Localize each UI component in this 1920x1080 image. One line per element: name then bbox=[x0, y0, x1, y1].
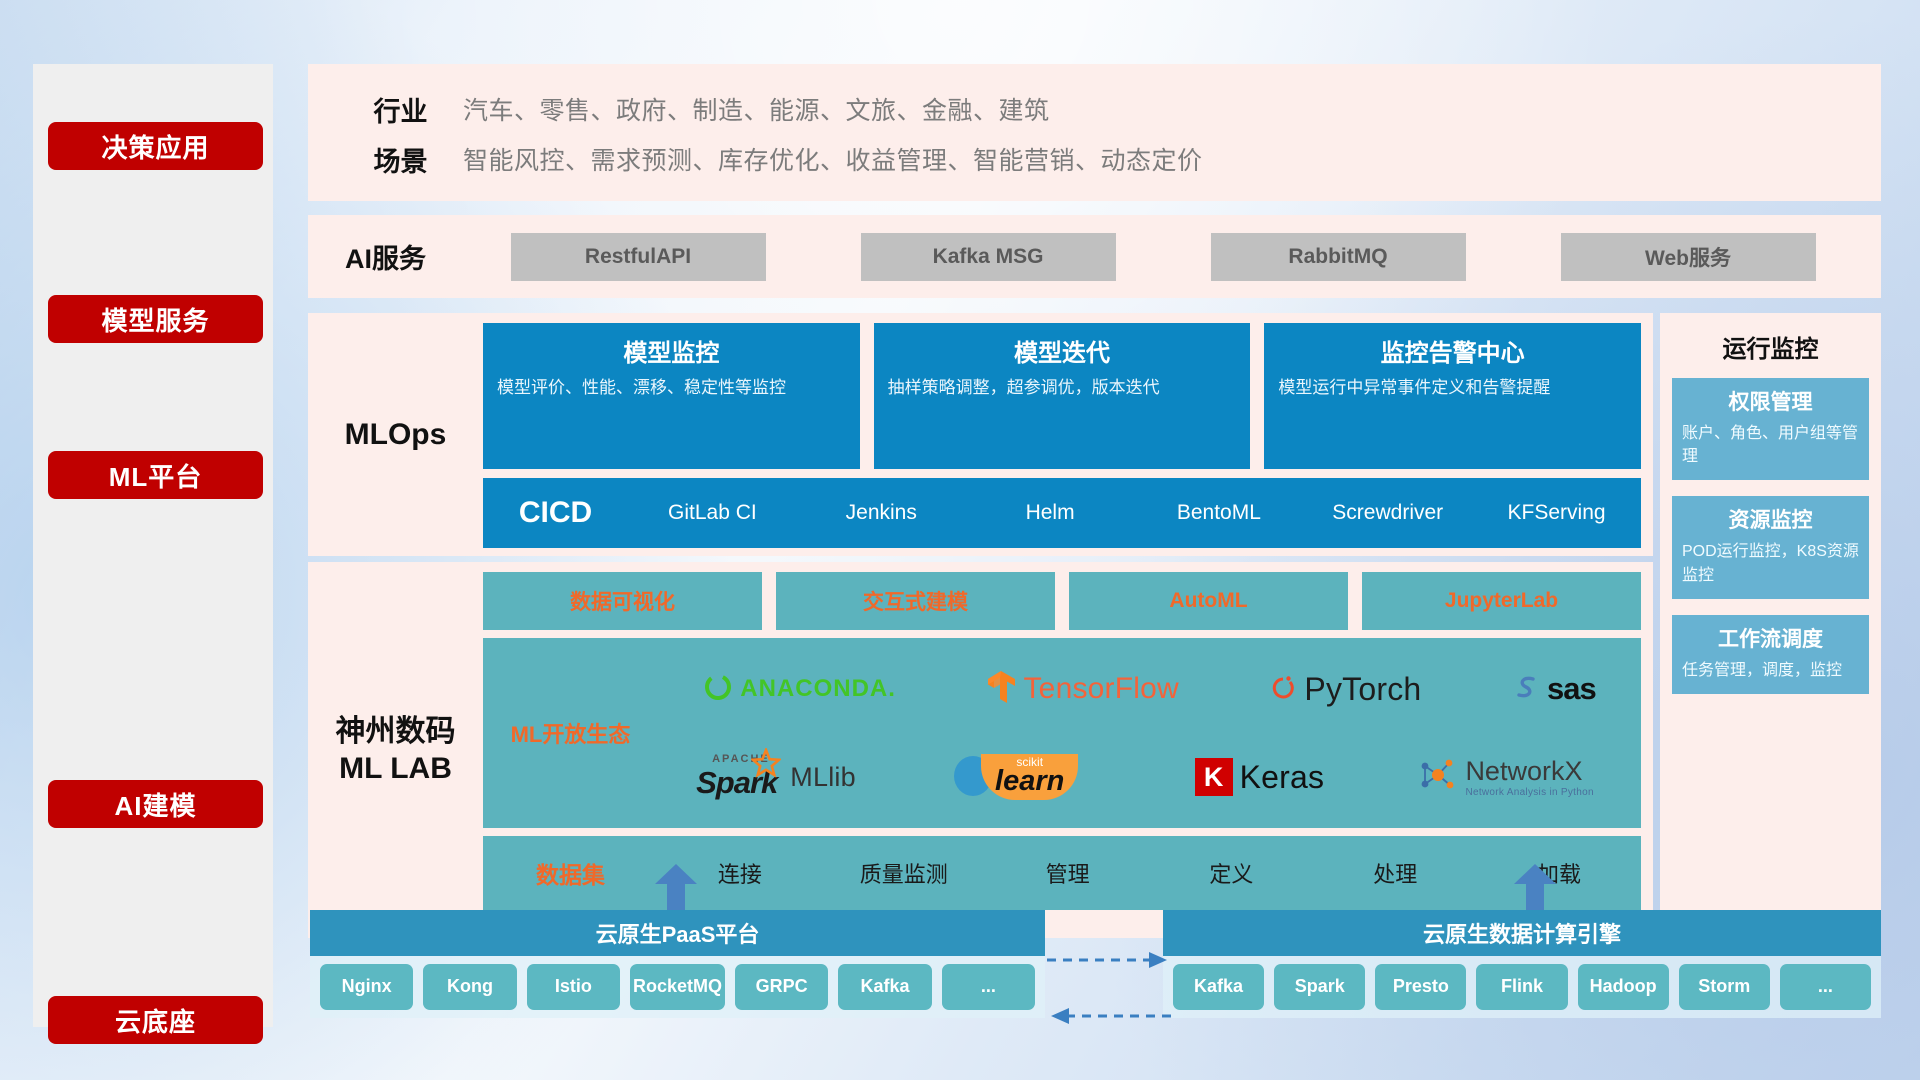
engine-chip[interactable]: Flink bbox=[1476, 964, 1567, 1010]
mlops-card-list: 模型监控 模型评价、性能、漂移、稳定性等监控 模型迭代 抽样策略调整，超参调优，… bbox=[483, 323, 1641, 469]
dataset-item-list: 连接 质量监测 管理 定义 处理 加载 bbox=[658, 857, 1641, 889]
monitoring-card-title: 资源监控 bbox=[1682, 504, 1859, 534]
ml-lab-label: 神州数码 ML LAB bbox=[308, 562, 483, 938]
paas-engine-connector bbox=[1045, 944, 1173, 1032]
monitoring-card-desc: 账户、角色、用户组等管理 bbox=[1682, 422, 1859, 468]
monitoring-card-title: 工作流调度 bbox=[1682, 623, 1859, 653]
cicd-bar: CICD GitLab CI Jenkins Helm BentoML Scre… bbox=[483, 478, 1641, 548]
engine-up-arrow-icon bbox=[1513, 864, 1557, 912]
cicd-item-list: GitLab CI Jenkins Helm BentoML Screwdriv… bbox=[628, 501, 1641, 525]
ml-lab-tool-list: 数据可视化 交互式建模 AutoML JupyterLab bbox=[483, 572, 1641, 630]
engine-chip-tray: Kafka Spark Presto Flink Hadoop Storm ..… bbox=[1163, 956, 1881, 1018]
networkx-logo: NetworkX Network Analysis in Python bbox=[1418, 756, 1593, 799]
scikit-learn-wordmark: learn bbox=[995, 768, 1064, 796]
paas-chip[interactable]: ... bbox=[942, 964, 1035, 1010]
ai-service-chip[interactable]: Web服务 bbox=[1561, 233, 1816, 281]
scenario-row: 场景 智能风控、需求预测、库存优化、收益管理、智能营销、动态定价 bbox=[308, 134, 1881, 184]
mlops-card-title: 模型迭代 bbox=[888, 333, 1237, 368]
pytorch-logo: PyTorch bbox=[1269, 671, 1421, 708]
engine-title: 云原生数据计算引擎 bbox=[1163, 910, 1881, 956]
ml-lab-tool[interactable]: JupyterLab bbox=[1362, 572, 1641, 630]
cicd-item[interactable]: Screwdriver bbox=[1303, 501, 1472, 525]
paas-up-arrow-icon bbox=[654, 864, 698, 912]
mlops-card-desc: 模型评价、性能、漂移、稳定性等监控 bbox=[497, 376, 846, 401]
mllib-wordmark: MLlib bbox=[790, 762, 856, 793]
engine-chip[interactable]: Storm bbox=[1679, 964, 1770, 1010]
engine-chip[interactable]: ... bbox=[1780, 964, 1871, 1010]
tensorflow-wordmark: TensorFlow bbox=[1023, 672, 1178, 706]
dataset-item[interactable]: 处理 bbox=[1313, 857, 1477, 889]
anaconda-icon bbox=[703, 672, 733, 707]
dataset-item[interactable]: 管理 bbox=[986, 857, 1150, 889]
dataset-item[interactable]: 质量监测 bbox=[822, 857, 986, 889]
industry-label: 行业 bbox=[308, 90, 463, 129]
scenario-label: 场景 bbox=[308, 140, 463, 179]
pytorch-wordmark: PyTorch bbox=[1304, 671, 1421, 708]
keras-logo: K Keras bbox=[1195, 758, 1325, 796]
ai-services-label: AI服务 bbox=[308, 237, 463, 276]
anaconda-logo: ANACONDA. bbox=[703, 672, 896, 707]
paas-chip[interactable]: Kong bbox=[423, 964, 516, 1010]
stage-rail: 决策应用 模型服务 ML平台 AI建模 云底座 bbox=[33, 64, 273, 1027]
applications-panel: 行业 汽车、零售、政府、制造、能源、文旅、金融、建筑 场景 智能风控、需求预测、… bbox=[308, 64, 1881, 201]
monitoring-card-desc: POD运行监控，K8S资源监控 bbox=[1682, 540, 1859, 586]
ml-lab-tool[interactable]: 数据可视化 bbox=[483, 572, 762, 630]
cicd-item[interactable]: Jenkins bbox=[797, 501, 966, 525]
ml-lab-label-line2: ML LAB bbox=[336, 750, 456, 788]
cicd-label: CICD bbox=[483, 496, 628, 530]
ml-ecosystem-label: ML开放生态 bbox=[483, 717, 658, 749]
ai-service-chip[interactable]: RestfulAPI bbox=[511, 233, 766, 281]
monitoring-card-title: 权限管理 bbox=[1682, 386, 1859, 416]
cicd-item[interactable]: GitLab CI bbox=[628, 501, 797, 525]
engine-chip[interactable]: Hadoop bbox=[1578, 964, 1669, 1010]
monitoring-card[interactable]: 权限管理 账户、角色、用户组等管理 bbox=[1672, 378, 1869, 480]
dataset-item[interactable]: 定义 bbox=[1149, 857, 1313, 889]
mlops-body: 模型监控 模型评价、性能、漂移、稳定性等监控 模型迭代 抽样策略调整，超参调优，… bbox=[483, 313, 1653, 556]
cicd-item[interactable]: KFServing bbox=[1472, 501, 1641, 525]
ai-service-chip[interactable]: Kafka MSG bbox=[861, 233, 1116, 281]
engine-chip[interactable]: Presto bbox=[1375, 964, 1466, 1010]
monitoring-card[interactable]: 资源监控 POD运行监控，K8S资源监控 bbox=[1672, 496, 1869, 598]
mlops-card-title: 监控告警中心 bbox=[1278, 333, 1627, 368]
mlops-panel: MLOps 模型监控 模型评价、性能、漂移、稳定性等监控 模型迭代 抽样策略调整… bbox=[308, 313, 1653, 556]
spark-mllib-logo: APACHE Spark MLlib bbox=[705, 753, 856, 801]
cicd-item[interactable]: BentoML bbox=[1134, 501, 1303, 525]
ai-service-chip[interactable]: RabbitMQ bbox=[1211, 233, 1466, 281]
stage-chip-ai-modeling[interactable]: AI建模 bbox=[48, 780, 263, 828]
mlops-card[interactable]: 模型监控 模型评价、性能、漂移、稳定性等监控 bbox=[483, 323, 860, 469]
ml-ecosystem-logo-grid: ANACONDA. TensorFlow bbox=[658, 638, 1641, 828]
runtime-monitoring-panel: 运行监控 权限管理 账户、角色、用户组等管理 资源监控 POD运行监控，K8S资… bbox=[1660, 313, 1881, 938]
paas-chip-tray: Nginx Kong Istio RocketMQ GRPC Kafka ... bbox=[310, 956, 1045, 1018]
scikit-learn-logo: scikit learn bbox=[950, 752, 1100, 803]
mlops-card-title: 模型监控 bbox=[497, 333, 846, 368]
ml-lab-label-line1: 神州数码 bbox=[336, 713, 456, 751]
pytorch-icon bbox=[1269, 672, 1297, 707]
stage-chip-decision[interactable]: 决策应用 bbox=[48, 122, 263, 170]
mlops-card[interactable]: 模型迭代 抽样策略调整，超参调优，版本迭代 bbox=[874, 323, 1251, 469]
industry-value: 汽车、零售、政府、制造、能源、文旅、金融、建筑 bbox=[463, 91, 1050, 127]
anaconda-wordmark: ANACONDA. bbox=[740, 675, 896, 703]
stage-chip-ml-platform[interactable]: ML平台 bbox=[48, 451, 263, 499]
scenario-value: 智能风控、需求预测、库存优化、收益管理、智能营销、动态定价 bbox=[463, 141, 1203, 177]
ml-lab-panel: 神州数码 ML LAB 数据可视化 交互式建模 AutoML JupyterLa… bbox=[308, 562, 1653, 938]
stage-chip-model-service[interactable]: 模型服务 bbox=[48, 295, 263, 343]
mlops-card[interactable]: 监控告警中心 模型运行中异常事件定义和告警提醒 bbox=[1264, 323, 1641, 469]
sas-wordmark: sas bbox=[1547, 671, 1596, 707]
ml-ecosystem-logo-row-2: APACHE Spark MLlib scikit learn bbox=[658, 734, 1641, 820]
paas-title: 云原生PaaS平台 bbox=[310, 910, 1045, 956]
cicd-item[interactable]: Helm bbox=[966, 501, 1135, 525]
dataset-label: 数据集 bbox=[483, 856, 658, 890]
ai-services-panel: AI服务 RestfulAPI Kafka MSG RabbitMQ Web服务 bbox=[308, 215, 1881, 298]
paas-chip[interactable]: Kafka bbox=[838, 964, 931, 1010]
ai-services-chip-list: RestfulAPI Kafka MSG RabbitMQ Web服务 bbox=[463, 233, 1881, 281]
dataset-item[interactable]: 加载 bbox=[1477, 857, 1641, 889]
engine-chip[interactable]: Kafka bbox=[1173, 964, 1264, 1010]
paas-chip[interactable]: GRPC bbox=[735, 964, 828, 1010]
paas-chip[interactable]: RocketMQ bbox=[630, 964, 725, 1010]
ml-ecosystem-bar: ML开放生态 ANACONDA. bbox=[483, 638, 1641, 828]
ml-ecosystem-logo-row-1: ANACONDA. TensorFlow bbox=[658, 646, 1641, 732]
monitoring-card[interactable]: 工作流调度 任务管理，调度，监控 bbox=[1672, 615, 1869, 694]
stage-chip-cloud-base[interactable]: 云底座 bbox=[48, 996, 263, 1044]
engine-chip[interactable]: Spark bbox=[1274, 964, 1365, 1010]
industry-row: 行业 汽车、零售、政府、制造、能源、文旅、金融、建筑 bbox=[308, 84, 1881, 134]
monitoring-card-desc: 任务管理，调度，监控 bbox=[1682, 659, 1859, 682]
runtime-monitoring-title: 运行监控 bbox=[1672, 329, 1869, 364]
tensorflow-logo: TensorFlow bbox=[986, 670, 1178, 709]
networkx-icon bbox=[1418, 756, 1458, 799]
networkx-subtitle: Network Analysis in Python bbox=[1465, 787, 1593, 798]
paas-chip[interactable]: Istio bbox=[527, 964, 620, 1010]
ml-lab-tool[interactable]: AutoML bbox=[1069, 572, 1348, 630]
mlops-card-desc: 模型运行中异常事件定义和告警提醒 bbox=[1278, 376, 1627, 401]
sas-logo: sas bbox=[1512, 671, 1596, 707]
networkx-wordmark: NetworkX bbox=[1465, 756, 1582, 787]
sas-icon bbox=[1512, 672, 1540, 707]
mlops-card-desc: 抽样策略调整，超参调优，版本迭代 bbox=[888, 376, 1237, 401]
mlops-label: MLOps bbox=[308, 313, 483, 556]
tensorflow-icon bbox=[986, 670, 1016, 709]
paas-chip[interactable]: Nginx bbox=[320, 964, 413, 1010]
keras-icon: K bbox=[1195, 758, 1233, 796]
spark-star-icon bbox=[751, 748, 781, 783]
keras-wordmark: Keras bbox=[1240, 759, 1325, 796]
ml-lab-tool[interactable]: 交互式建模 bbox=[776, 572, 1055, 630]
